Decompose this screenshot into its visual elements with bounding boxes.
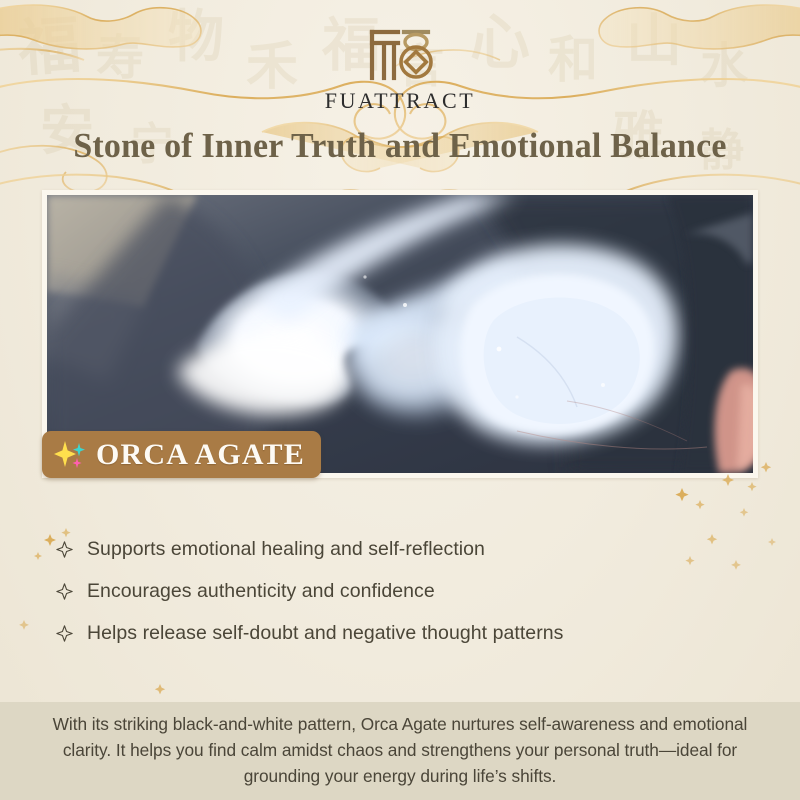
four-pointed-star-outline-icon	[56, 541, 73, 558]
product-name-badge: ORCA AGATE	[42, 431, 321, 478]
footer-description: With its striking black-and-white patter…	[30, 712, 770, 790]
list-item: Helps release self-doubt and negative th…	[56, 612, 746, 654]
brand-name: FUATTRACT	[0, 88, 800, 114]
product-name-label: ORCA AGATE	[96, 440, 305, 470]
benefits-list: Supports emotional healing and self-refl…	[56, 528, 746, 654]
list-item: Encourages authenticity and confidence	[56, 570, 746, 612]
brand-header: FUATTRACT	[0, 26, 800, 114]
four-pointed-star-outline-icon	[56, 583, 73, 600]
benefit-text: Encourages authenticity and confidence	[87, 580, 435, 603]
abstract-vessel-logo-mark	[364, 26, 436, 84]
four-pointed-star-outline-icon	[56, 625, 73, 642]
list-item: Supports emotional healing and self-refl…	[56, 528, 746, 570]
benefit-text: Helps release self-doubt and negative th…	[87, 622, 563, 645]
poster-canvas: 福 寿 物 禾 福 言 心 和 山 水 安 宁 雅 静	[0, 0, 800, 800]
page-title: Stone of Inner Truth and Emotional Balan…	[12, 126, 788, 166]
sparkles-icon	[53, 438, 87, 472]
footer-band: With its striking black-and-white patter…	[0, 702, 800, 800]
benefit-text: Supports emotional healing and self-refl…	[87, 538, 485, 561]
